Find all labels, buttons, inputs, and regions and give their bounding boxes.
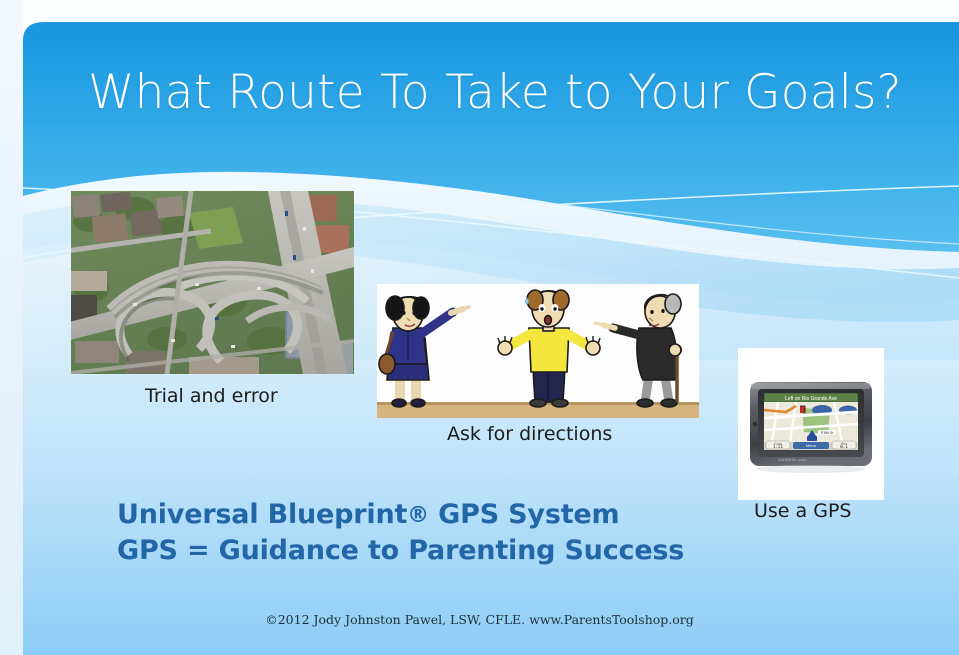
body-headline-line1: Universal Blueprint® GPS System <box>117 497 684 533</box>
slide-title: What Route To Take to Your Goals? <box>88 66 888 120</box>
gps-brand-label: GARMIN nuvi <box>778 457 807 462</box>
aerial-highway-interchange-photo <box>71 191 354 374</box>
gps-distance: 0.1 <box>840 444 848 449</box>
cartoon-people-giving-directions <box>377 284 699 418</box>
body-headline: Universal Blueprint® GPS System GPS = Gu… <box>117 497 684 569</box>
caption-use-a-gps: Use a GPS <box>754 500 851 522</box>
registered-trademark-icon: ® <box>407 503 429 528</box>
body-line1-after: GPS System <box>429 499 619 530</box>
gps-navigation-device-photo: Left on Rio Grande Ave <box>738 348 884 500</box>
body-line1-before: Universal Blueprint <box>117 499 407 530</box>
gps-menu-button: Menu <box>806 443 816 448</box>
presentation-slide: What Route To Take to Your Goals? <box>0 0 959 655</box>
copyright-footer: ©2012 Jody Johnston Pawel, LSW, CFLE. ww… <box>0 612 959 627</box>
svg-text:E 6th St: E 6th St <box>821 431 833 435</box>
gps-arrival-time: 1:21 <box>773 444 784 449</box>
caption-ask-for-directions: Ask for directions <box>447 423 612 445</box>
caption-trial-and-error: Trial and error <box>145 385 278 407</box>
gps-screen-banner: Left on Rio Grande Ave <box>785 396 837 402</box>
body-headline-line2: GPS = Guidance to Parenting Success <box>117 533 684 569</box>
